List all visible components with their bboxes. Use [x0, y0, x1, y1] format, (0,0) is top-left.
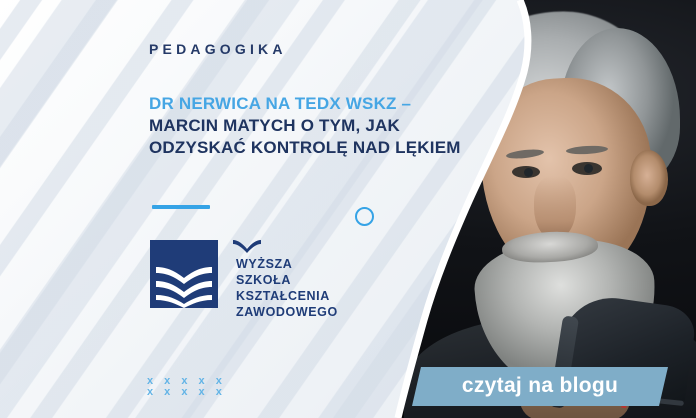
- blog-promo-banner: PEDAGOGIKA DR NERWICA NA TEDX WSKZ – MAR…: [0, 0, 696, 418]
- read-on-blog-label: czytaj na blogu: [462, 374, 618, 398]
- pupil-right: [584, 164, 593, 173]
- read-on-blog-button[interactable]: czytaj na blogu: [412, 367, 668, 406]
- nose-shape: [534, 176, 576, 240]
- accent-rule: [152, 205, 210, 209]
- ear-shape: [630, 150, 668, 206]
- circle-outline-icon: [355, 207, 374, 226]
- bird-chevron-icon: [232, 238, 262, 254]
- category-label: PEDAGOGIKA: [149, 41, 287, 57]
- institution-name: WYŻSZA SZKOŁA KSZTAŁCENIA ZAWODOWEGO: [236, 256, 338, 320]
- headline-accent-text: DR NERWICA NA TEDX WSKZ –: [149, 94, 411, 113]
- x-pattern-decoration: x x x x x x x x x x: [147, 376, 226, 398]
- institution-logo: WYŻSZA SZKOŁA KSZTAŁCENIA ZAWODOWEGO: [150, 240, 218, 308]
- page-title: DR NERWICA NA TEDX WSKZ – MARCIN MATYCH …: [149, 93, 479, 159]
- open-book-logo-icon: [150, 240, 218, 308]
- headline-rest-text: MARCIN MATYCH O TYM, JAK ODZYSKAĆ KONTRO…: [149, 116, 461, 157]
- pupil-left: [524, 168, 533, 177]
- x-pattern-row-2: x x x x x: [147, 387, 226, 398]
